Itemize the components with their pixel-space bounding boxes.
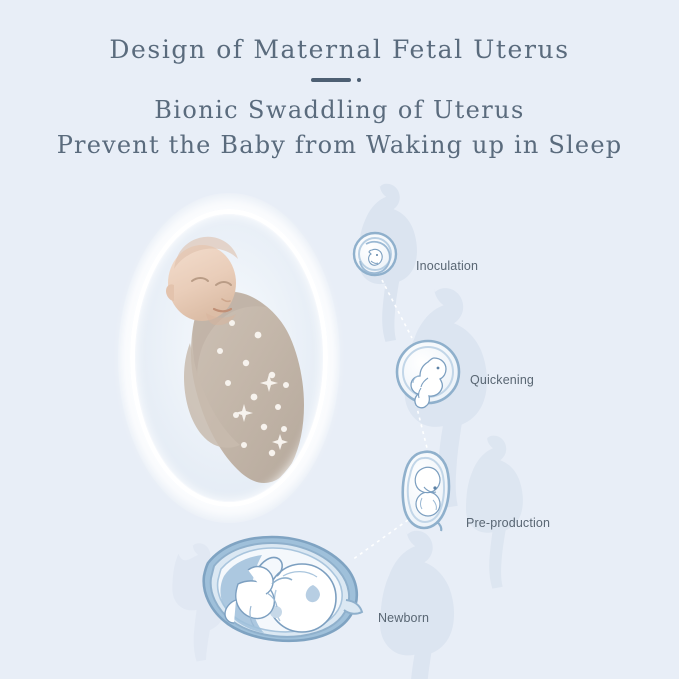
stage-label-pre-production: Pre-production	[466, 516, 550, 530]
stage-label-quickening: Quickening	[470, 373, 534, 387]
timeline-diagram	[0, 0, 679, 679]
stage-icon-quickening	[397, 341, 459, 408]
stage-label-inoculation: Inoculation	[416, 259, 478, 273]
stage-icon-pre-production	[403, 452, 449, 531]
stage-icon-inoculation	[354, 233, 396, 275]
connector-1	[382, 280, 412, 338]
connector-2	[416, 404, 428, 452]
stage-label-newborn: Newborn	[378, 611, 429, 625]
poster-root: Design of Maternal Fetal Uterus Bionic S…	[0, 0, 679, 679]
stage-icon-newborn	[204, 537, 362, 641]
connector-3	[352, 520, 408, 560]
